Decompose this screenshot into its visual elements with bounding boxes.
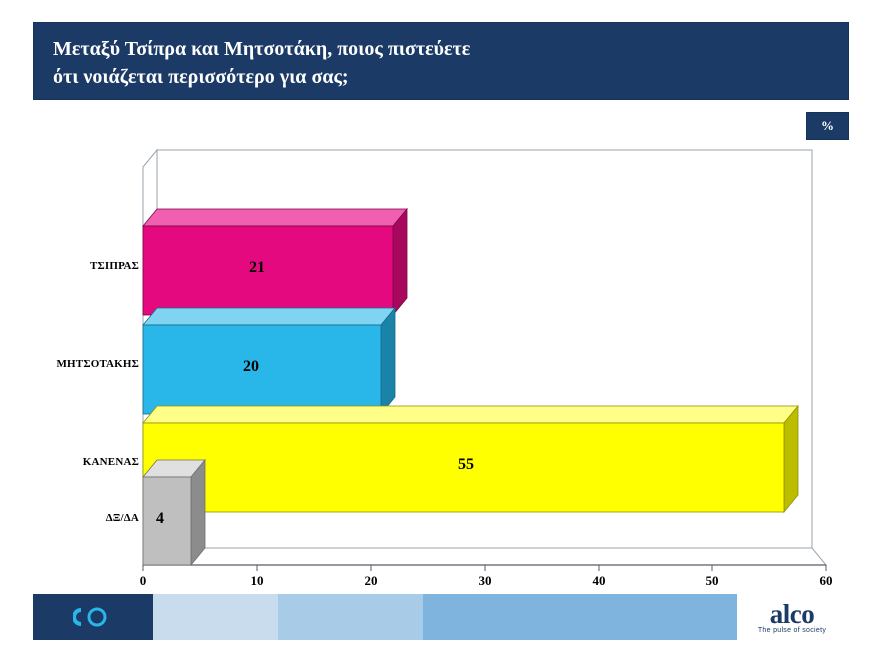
slide-root: Μεταξύ Τσίπρα και Μητσοτάκη, ποιος πιστε…: [0, 0, 880, 662]
category-label-tsipras: ΤΣΙΠΡΑΣ: [43, 260, 139, 272]
bar-value-kanenas: 55: [458, 456, 474, 474]
alco-tagline: The pulse of society: [758, 627, 826, 634]
bar-mitsotakis: [143, 308, 395, 414]
open-logo: [33, 594, 153, 640]
page-title: Μεταξύ Τσίπρα και Μητσοτάκη, ποιος πιστε…: [53, 35, 833, 91]
alco-logo-text: alco: [770, 601, 815, 627]
xtick-60: 60: [811, 573, 841, 589]
footer-segment-open: [33, 594, 153, 640]
footer-segment-2: [153, 594, 278, 640]
xtick-0: 0: [128, 573, 158, 589]
open-logo-icon: [72, 604, 114, 630]
xtick-40: 40: [584, 573, 614, 589]
footer-segment-3: [278, 594, 423, 640]
xtick-30: 30: [470, 573, 500, 589]
footer-segment-4: [423, 594, 737, 640]
chart-area: ΤΣΙΠΡΑΣ ΜΗΤΣΟΤΑΚΗΣ ΚΑΝΕΝΑΣ ΔΞ/ΔΑ 21 20 5…: [33, 140, 847, 590]
category-label-kanenas: ΚΑΝΕΝΑΣ: [41, 456, 139, 468]
category-label-dksda: ΔΞ/ΔΑ: [59, 512, 139, 524]
category-label-mitsotakis: ΜΗΤΣΟΤΑΚΗΣ: [33, 358, 139, 370]
bar-tsipras: [143, 209, 407, 315]
xtick-20: 20: [356, 573, 386, 589]
title-band: Μεταξύ Τσίπρα και Μητσοτάκη, ποιος πιστε…: [33, 22, 849, 100]
percent-badge: %: [806, 112, 849, 140]
bar-value-tsipras: 21: [249, 259, 265, 277]
footer-bar: alco The pulse of society: [33, 594, 847, 640]
bar-value-mitsotakis: 20: [243, 358, 259, 376]
bar-value-dksda: 4: [156, 510, 164, 528]
alco-logo: alco The pulse of society: [737, 594, 847, 640]
xtick-50: 50: [697, 573, 727, 589]
bar-dksda: [143, 460, 205, 565]
xtick-10: 10: [242, 573, 272, 589]
